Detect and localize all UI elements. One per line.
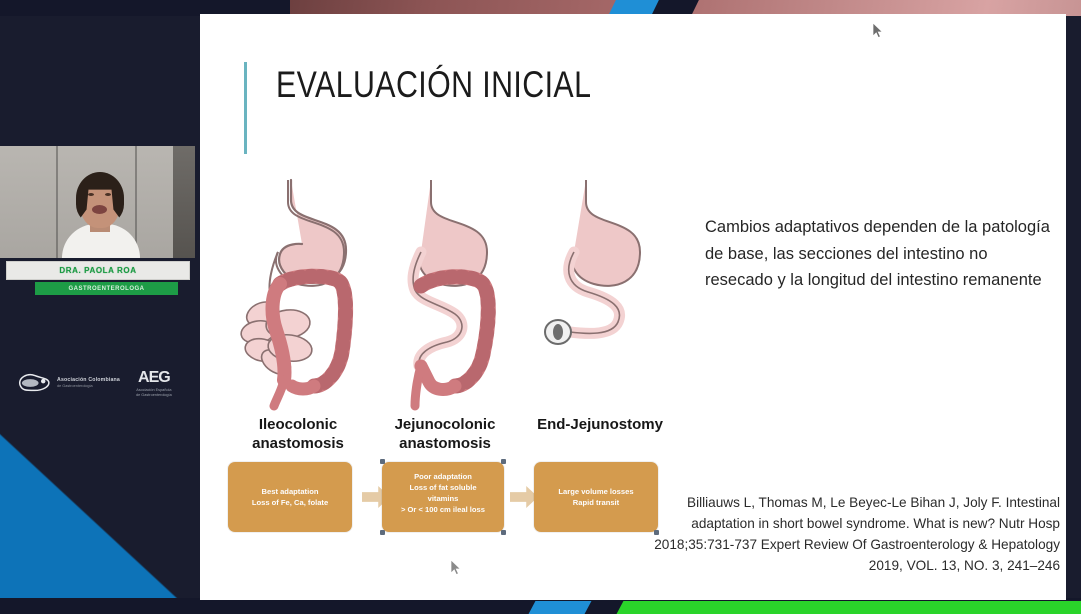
figure-label-ileocolonic: Ileocolonic anastomosis (228, 416, 368, 454)
figure-label-group: Ileocolonic anastomosis Jejunocolonic an… (220, 416, 680, 460)
presenter-name: DRA. PAOLA ROA (59, 266, 136, 275)
aeg-logo-word: AEG (136, 369, 172, 387)
aco-logo: Asociación Colombiana de Gastroenterolog… (14, 370, 120, 396)
mouse-cursor-top (872, 22, 884, 40)
anatomy-figure-group (216, 174, 686, 414)
selection-handle[interactable] (380, 459, 385, 464)
flow-box-line: Poor adaptation (414, 471, 472, 482)
aco-logo-line2: de Gastroenterología (57, 384, 120, 388)
figure-label-line1: Jejunocolonic (395, 416, 496, 433)
presenter-eye-right (105, 193, 111, 196)
wall-shadow (173, 146, 195, 258)
flow-box-line: Large volume losses (558, 486, 633, 497)
figure-label-line2: anastomosis (252, 435, 344, 452)
presenter-role: GASTROENTEROLOGA (68, 286, 144, 292)
slide-title: EVALUACIÓN INICIAL (276, 64, 591, 106)
aco-emblem-icon (14, 370, 52, 396)
flow-box-line: Best adaptation (262, 486, 319, 497)
flow-box-line: > Or < 100 cm ileal loss (401, 504, 485, 515)
aco-logo-line1: Asociación Colombiana (57, 378, 120, 384)
presenter-name-banner: DRA. PAOLA ROA (6, 261, 190, 280)
figure-label-end-jejunostomy: End-Jejunostomy (520, 416, 680, 435)
presenter-rail: DRA. PAOLA ROA GASTROENTEROLOGA Asociaci… (0, 0, 200, 614)
flow-box-line: Loss of fat soluble (409, 482, 476, 493)
figure-label-line1: Ileocolonic (259, 416, 337, 433)
mouse-cursor-bottom (450, 559, 462, 577)
adaptation-flow-diagram: Best adaptation Loss of Fe, Ca, folate P… (222, 462, 670, 538)
aeg-logo-line1: Asociación Española (136, 388, 171, 392)
bottom-green-stripe-angled (617, 601, 664, 614)
figure-label-line1: End-Jejunostomy (537, 416, 663, 433)
bottom-green-stripe (640, 601, 1081, 614)
figure-label-jejunocolonic: Jejunocolonic anastomosis (370, 416, 520, 454)
presentation-slide: EVALUACIÓN INICIAL Cambios adaptativos d… (200, 14, 1066, 600)
selection-handle[interactable] (501, 530, 506, 535)
flow-box-line: vitamins (428, 493, 459, 504)
aeg-logo-sub: Asociación Española de Gastroenterología (136, 388, 172, 398)
aco-logo-text: Asociación Colombiana de Gastroenterolog… (57, 378, 120, 388)
aeg-logo-line2: de Gastroenterología (136, 393, 172, 397)
selection-handle[interactable] (501, 459, 506, 464)
flow-box-poor-adaptation: Poor adaptation Loss of fat soluble vita… (382, 462, 504, 532)
presenter-mouth (92, 205, 107, 214)
slide-citation: Billiauws L, Thomas M, Le Beyec-Le Bihan… (648, 492, 1060, 576)
jejunocolonic-anastomosis-diagram (371, 174, 531, 414)
logo-group: Asociación Colombiana de Gastroenterolog… (14, 362, 190, 404)
flow-box-line: Rapid transit (573, 497, 619, 508)
flow-box-large-volume-losses: Large volume losses Rapid transit (534, 462, 658, 532)
slide-body-text: Cambios adaptativos dependen de la patol… (705, 214, 1055, 294)
aeg-logo: AEG Asociación Española de Gastroenterol… (136, 369, 172, 398)
end-jejunostomy-diagram (514, 174, 674, 414)
flow-box-line: Loss of Fe, Ca, folate (252, 497, 328, 508)
selection-handle[interactable] (654, 530, 659, 535)
title-accent-bar (244, 62, 247, 154)
ileocolonic-anastomosis-diagram (228, 174, 388, 414)
figure-label-line2: anastomosis (399, 435, 491, 452)
flow-box-best-adaptation: Best adaptation Loss of Fe, Ca, folate (228, 462, 352, 532)
presenter-eye-left (88, 193, 94, 196)
screen-share-window: DRA. PAOLA ROA GASTROENTEROLOGA Asociaci… (0, 0, 1081, 614)
selection-handle[interactable] (380, 530, 385, 535)
wall-seam (56, 146, 58, 258)
presenter-video-tile[interactable] (0, 146, 195, 258)
presenter-role-banner: GASTROENTEROLOGA (35, 282, 178, 295)
